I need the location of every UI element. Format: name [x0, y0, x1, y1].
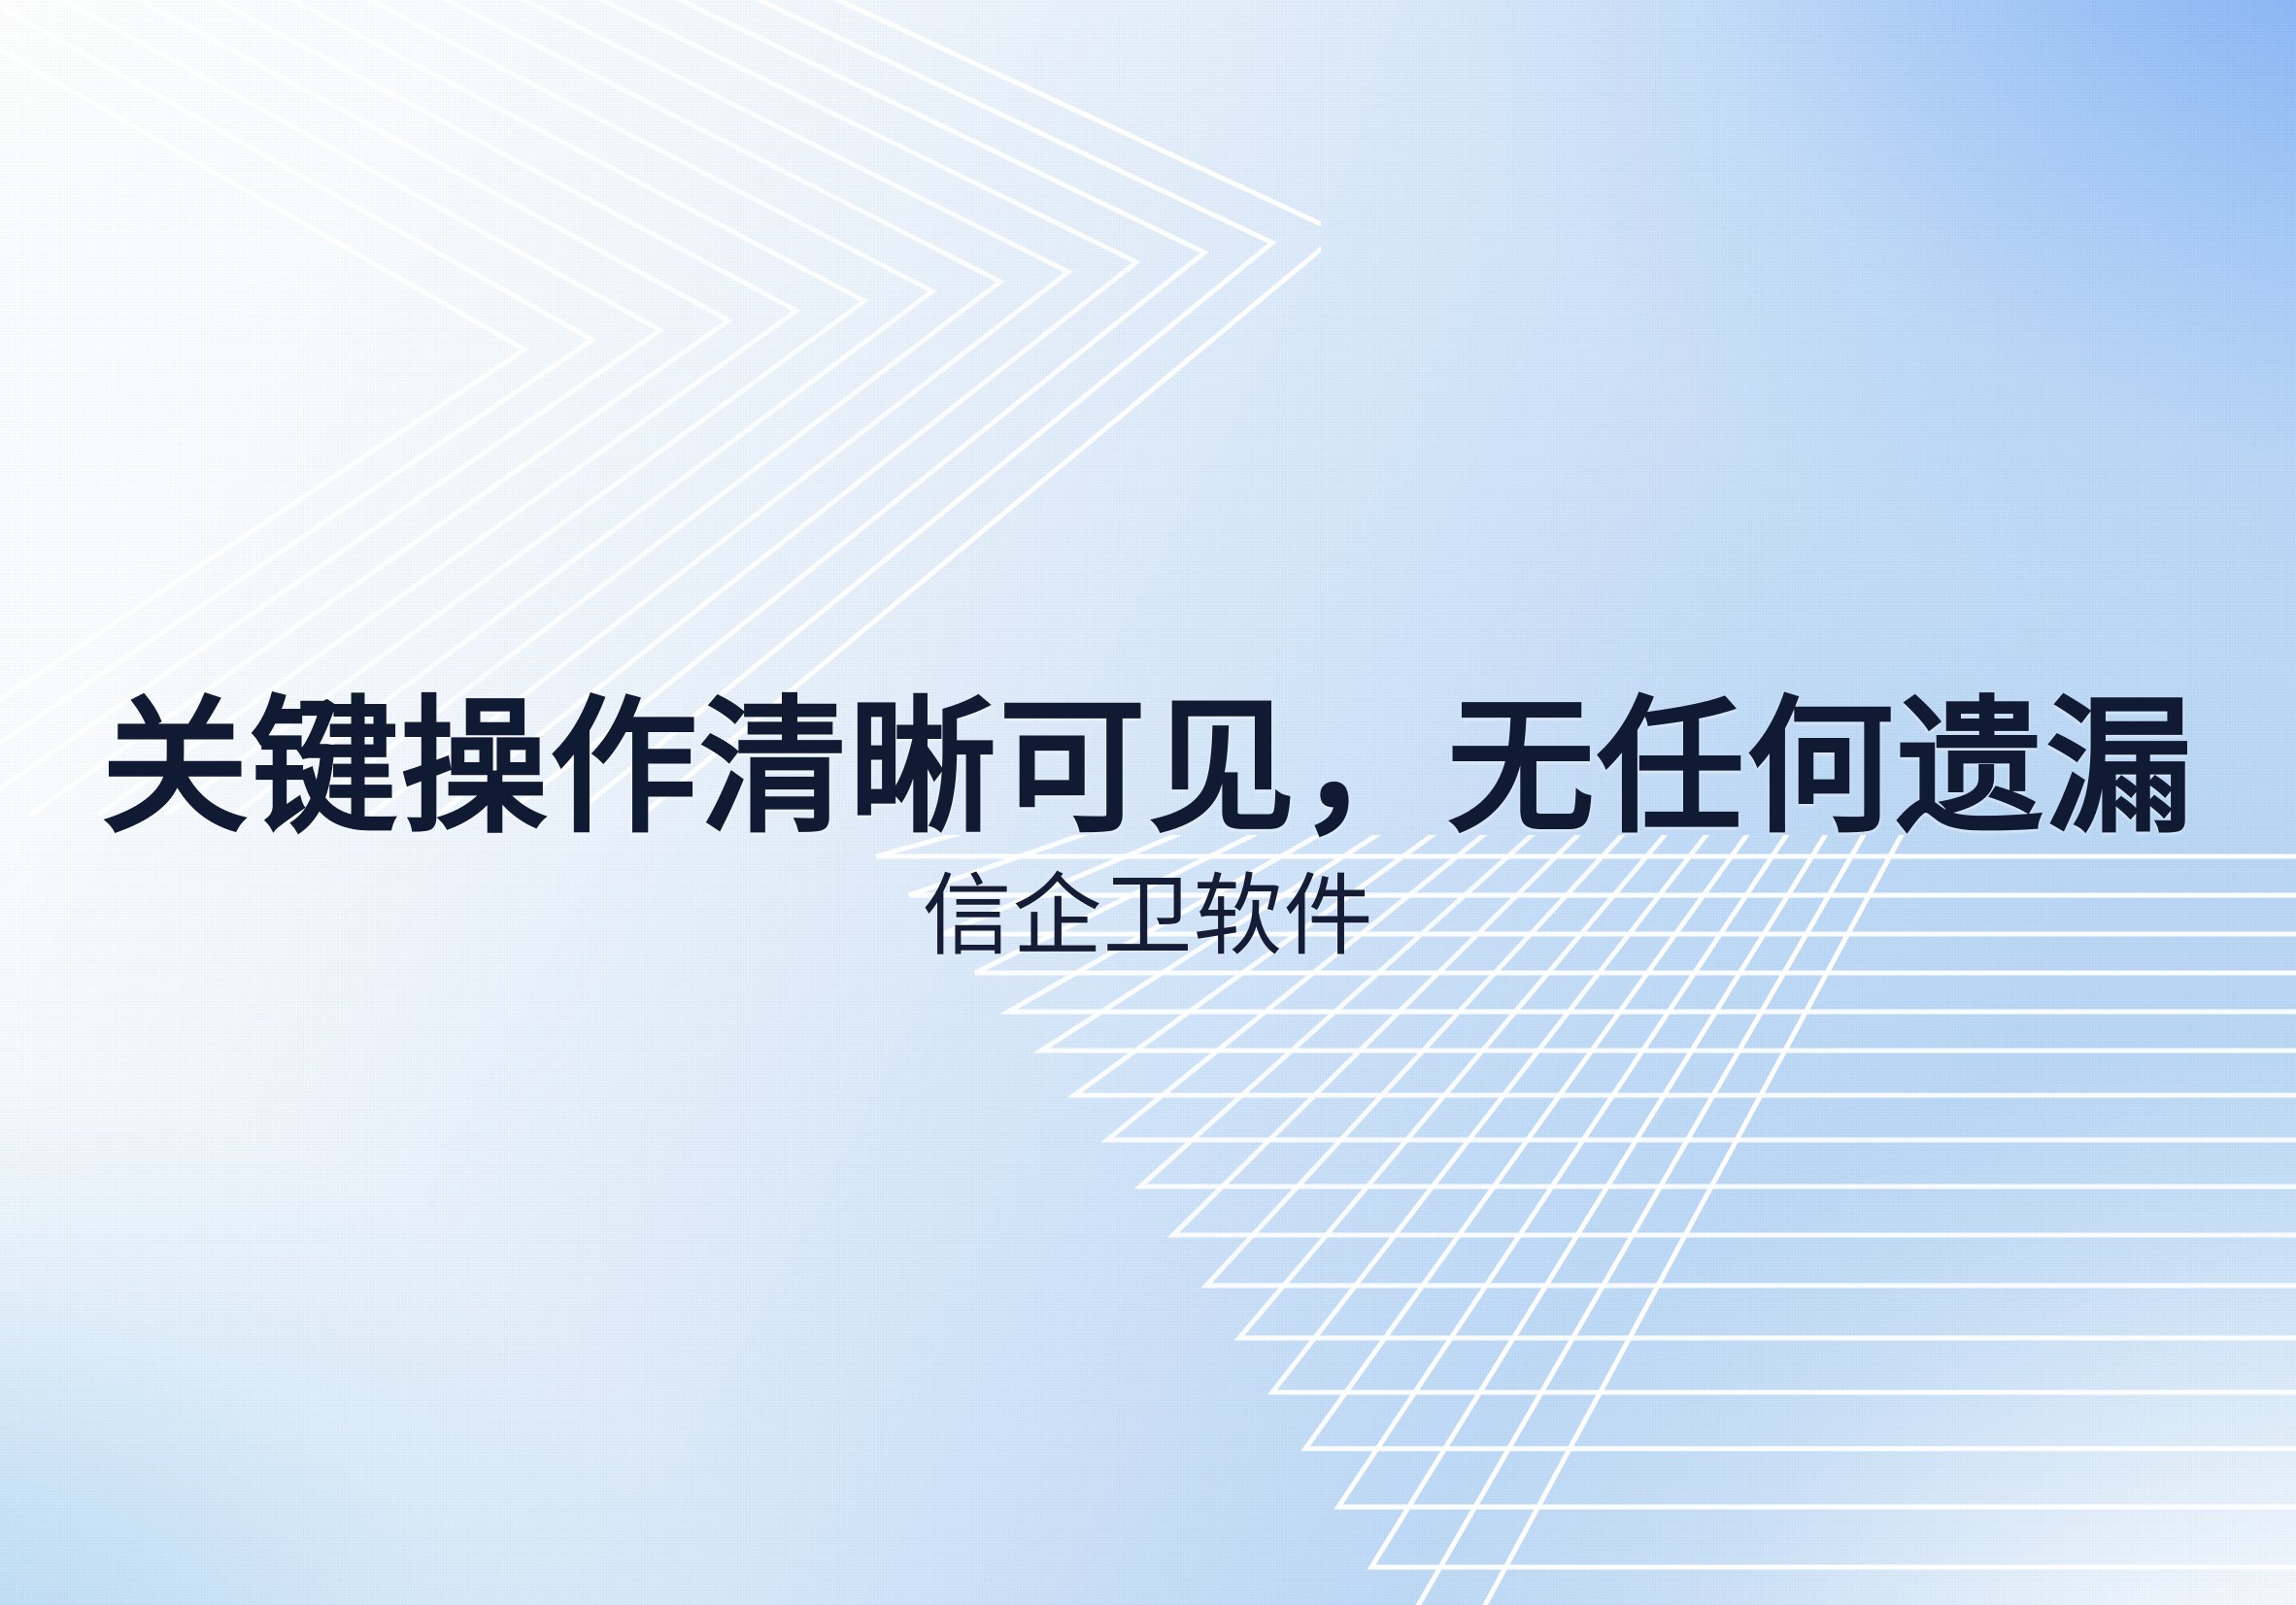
page-title: 关键操作清晰可见，无任何遗漏 — [0, 685, 2296, 851]
title-group: 关键操作清晰可见，无任何遗漏 信企卫软件 — [0, 685, 2296, 969]
slide-canvas: 关键操作清晰可见，无任何遗漏 信企卫软件 — [0, 0, 2296, 1605]
page-subtitle: 信企卫软件 — [0, 866, 2296, 969]
